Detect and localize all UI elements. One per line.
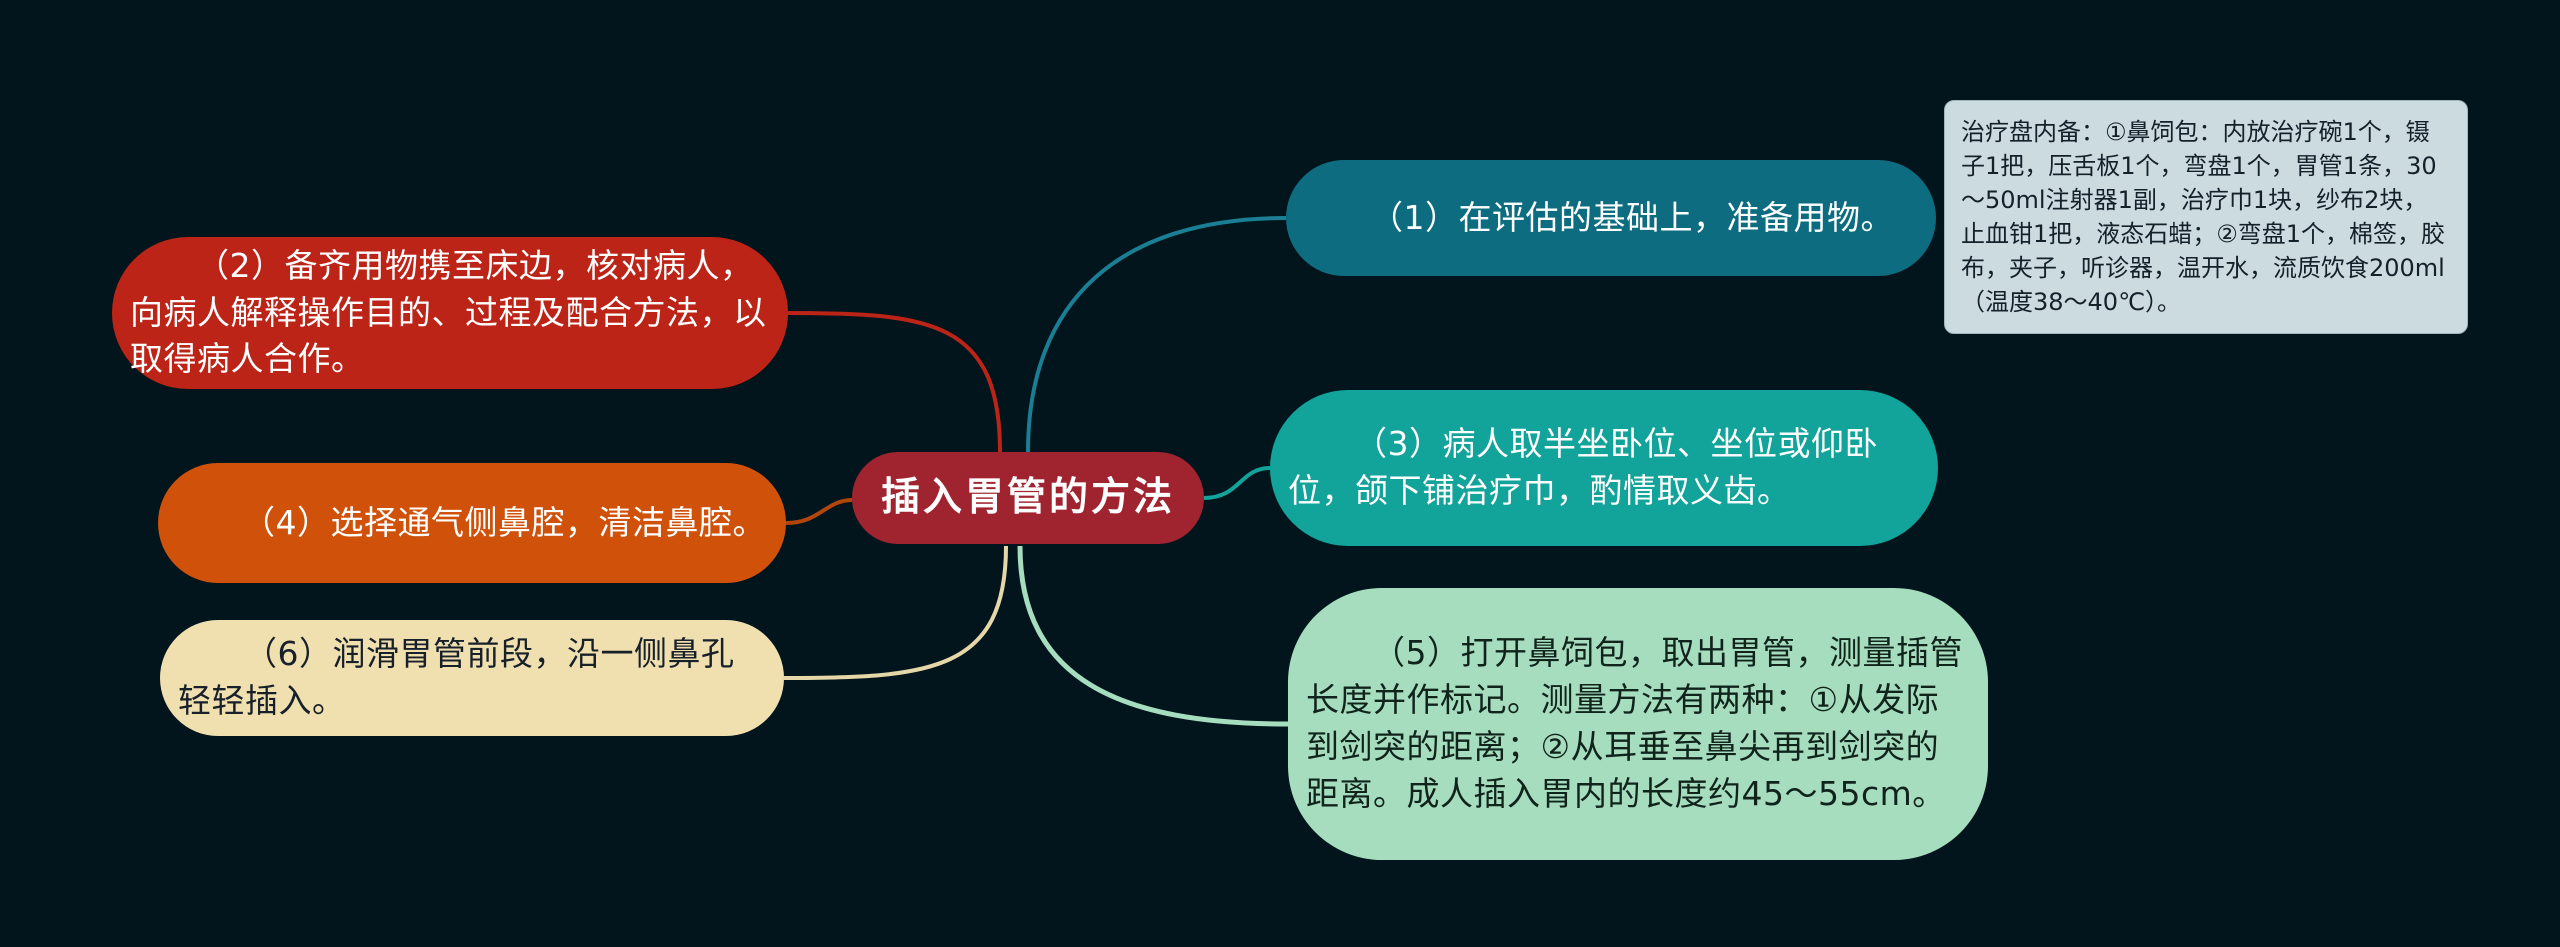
topic-node-1[interactable]: （1）在评估的基础上，准备用物。 <box>1286 160 1936 276</box>
note-box[interactable]: 治疗盘内备：①鼻饲包：内放治疗碗1个，镊子1把，压舌板1个，弯盘1个，胃管1条，… <box>1944 100 2468 334</box>
topic-node-6[interactable]: （6）润滑胃管前段，沿一侧鼻孔轻轻插入。 <box>160 620 784 736</box>
topic-node-4-label: （4）选择通气侧鼻腔，清洁鼻腔。 <box>158 500 786 547</box>
topic-node-2-label: （2）备齐用物携至床边，核对病人，向病人解释操作目的、过程及配合方法，以取得病人… <box>112 243 788 384</box>
edge-to-node-3 <box>1204 468 1270 498</box>
topic-node-3-label: （3）病人取半坐卧位、坐位或仰卧位，颌下铺治疗巾，酌情取义齿。 <box>1270 421 1938 515</box>
topic-node-4[interactable]: （4）选择通气侧鼻腔，清洁鼻腔。 <box>158 463 786 583</box>
topic-node-5[interactable]: （5）打开鼻饲包，取出胃管，测量插管长度并作标记。测量方法有两种：①从发际到剑突… <box>1288 588 1988 860</box>
central-topic-label: 插入胃管的方法 <box>852 470 1204 525</box>
edge-to-node-4 <box>786 500 852 523</box>
edge-to-node-6 <box>784 546 1006 678</box>
central-topic[interactable]: 插入胃管的方法 <box>852 452 1204 544</box>
topic-node-5-label: （5）打开鼻饲包，取出胃管，测量插管长度并作标记。测量方法有两种：①从发际到剑突… <box>1288 630 1988 817</box>
topic-node-1-label: （1）在评估的基础上，准备用物。 <box>1286 195 1936 242</box>
mindmap-canvas: 插入胃管的方法 （2）备齐用物携至床边，核对病人，向病人解释操作目的、过程及配合… <box>0 0 2560 947</box>
edge-to-node-1 <box>1028 218 1286 452</box>
edge-to-node-2 <box>788 313 1000 452</box>
note-box-text: 治疗盘内备：①鼻饲包：内放治疗碗1个，镊子1把，压舌板1个，弯盘1个，胃管1条，… <box>1961 118 2445 316</box>
topic-node-2[interactable]: （2）备齐用物携至床边，核对病人，向病人解释操作目的、过程及配合方法，以取得病人… <box>112 237 788 389</box>
topic-node-6-label: （6）润滑胃管前段，沿一侧鼻孔轻轻插入。 <box>160 631 784 725</box>
topic-node-3[interactable]: （3）病人取半坐卧位、坐位或仰卧位，颌下铺治疗巾，酌情取义齿。 <box>1270 390 1938 546</box>
edge-to-node-5 <box>1020 546 1288 724</box>
